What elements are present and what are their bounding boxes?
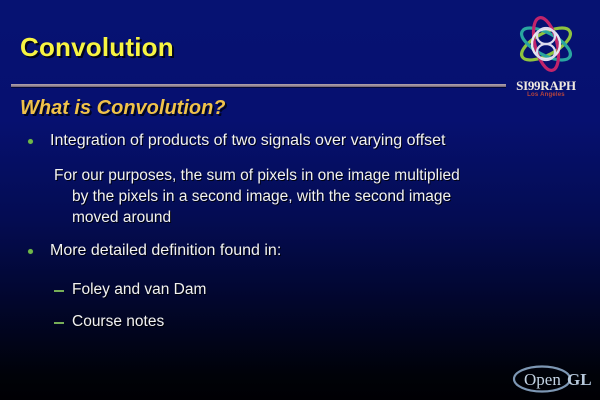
- paragraph-line: by the pixels in a second image, with th…: [24, 186, 584, 207]
- svg-text:Open: Open: [524, 370, 561, 389]
- title-divider: [11, 84, 506, 87]
- paragraph-line: moved around: [24, 207, 584, 228]
- bullet-dash-icon: [54, 322, 64, 324]
- bullet-dash-icon: [54, 290, 64, 292]
- siggraph-tagline: Los Angeles: [500, 92, 592, 98]
- sub-bullet-label: Course notes: [72, 313, 164, 330]
- svg-text:GL: GL: [567, 370, 592, 389]
- svg-text:.: .: [589, 377, 592, 388]
- slide-subtitle: What is Convolution?: [20, 97, 226, 120]
- spacer: [24, 157, 584, 165]
- bullet-item: More detailed definition found in:: [24, 242, 584, 260]
- sub-bullet-item: Course notes: [24, 313, 584, 331]
- siggraph-rings-icon: [500, 8, 592, 80]
- bullet-label: Integration of products of two signals o…: [50, 132, 445, 149]
- siggraph-logo: SI99RAPH Los Angeles: [500, 8, 592, 104]
- page-title: Convolution: [20, 32, 174, 63]
- paragraph-line: For our purposes, the sum of pixels in o…: [24, 165, 584, 186]
- paragraph-label: moved around: [72, 209, 171, 226]
- sub-bullet-item: Foley and van Dam: [24, 281, 584, 299]
- opengl-logo: Open GL .: [512, 364, 596, 394]
- bullet-item: Integration of products of two signals o…: [24, 132, 584, 150]
- bullet-label: More detailed definition found in:: [50, 242, 281, 259]
- bullet-dot-icon: [28, 249, 33, 254]
- slide-body: Integration of products of two signals o…: [24, 132, 584, 337]
- sub-bullet-label: Foley and van Dam: [72, 281, 206, 298]
- spacer: [24, 305, 584, 313]
- paragraph-label: For our purposes, the sum of pixels in o…: [54, 167, 460, 184]
- opengl-ellipse-icon: Open GL .: [512, 364, 596, 394]
- spacer: [24, 228, 584, 242]
- paragraph-label: by the pixels in a second image, with th…: [72, 188, 451, 205]
- bullet-dot-icon: [28, 139, 33, 144]
- presentation-slide: Convolution What is Convolution? Integra…: [0, 0, 600, 400]
- spacer: [24, 267, 584, 281]
